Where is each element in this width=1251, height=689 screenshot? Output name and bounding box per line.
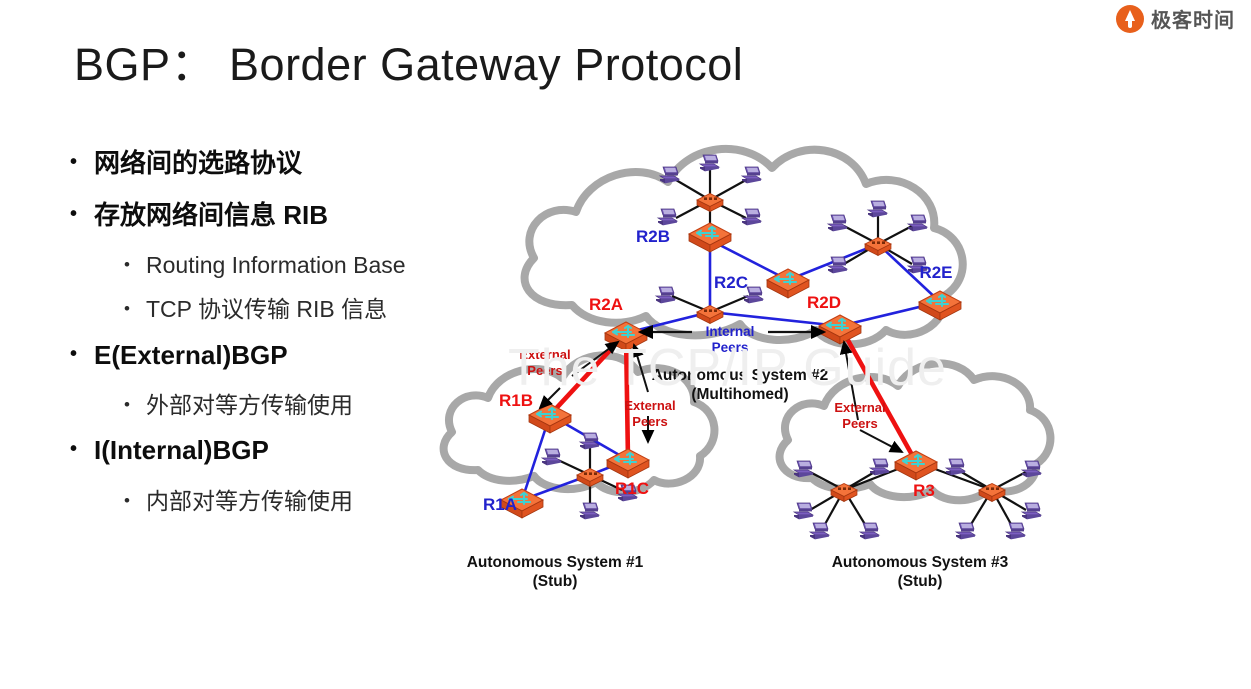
router-label-r2d: R2D <box>807 293 841 312</box>
external-peers-right-line2: Peers <box>842 416 877 431</box>
bullet-text: I(Internal)BGP <box>94 435 269 466</box>
as1-caption-line2: (Stub) <box>533 573 578 590</box>
slide-canvas: 极客时间 BGP： Border Gateway Protocol • 网络间的… <box>0 0 1251 689</box>
router-label-r2a: R2A <box>589 295 623 314</box>
page-title: BGP： Border Gateway Protocol <box>74 28 743 93</box>
external-peers-mid-line2: Peers <box>632 414 667 429</box>
bullet-dot-icon: • <box>70 200 94 229</box>
bgp-network-diagram: The TCP/IP Guide <box>400 130 1100 610</box>
geektime-logo: 极客时间 <box>1116 4 1235 33</box>
internal-peers-line1: Internal <box>706 324 755 339</box>
router-label-r1a: R1A <box>483 495 517 514</box>
bullet-dot-icon: • <box>124 488 146 514</box>
bullet-text: 存放网络间信息 RIB <box>94 200 328 231</box>
diagram-watermark: The TCP/IP Guide <box>508 338 947 398</box>
router-label-r1c: R1C <box>615 479 649 498</box>
bullet-text: Routing Information Base <box>146 252 406 280</box>
bullet-dot-icon: • <box>124 296 146 322</box>
bullet-text: 网络间的选路协议 <box>94 148 302 179</box>
bullet-text: 内部对等方传输使用 <box>146 488 353 516</box>
router-label-r2e: R2E <box>919 263 952 282</box>
as3-caption-line2: (Stub) <box>898 573 943 590</box>
external-peers-right-line1: External <box>834 400 885 415</box>
bullet-dot-icon: • <box>70 435 94 464</box>
bullet-dot-icon: • <box>70 340 94 369</box>
bullet-text: E(External)BGP <box>94 340 288 371</box>
bullet-dot-icon: • <box>124 392 146 418</box>
router-label-r2b: R2B <box>636 227 670 246</box>
bullet-dot-icon: • <box>124 252 146 278</box>
router-label-r2c: R2C <box>714 273 748 292</box>
bullet-dot-icon: • <box>70 148 94 177</box>
router-label-r3: R3 <box>913 481 935 500</box>
as3-caption-line1: Autonomous System #3 <box>832 554 1009 571</box>
geektime-logo-text: 极客时间 <box>1151 4 1235 33</box>
external-peers-mid-line1: External <box>624 398 675 413</box>
as1-caption-line1: Autonomous System #1 <box>467 554 644 571</box>
bullet-text: 外部对等方传输使用 <box>146 392 353 420</box>
bullet-text: TCP 协议传输 RIB 信息 <box>146 296 387 324</box>
geektime-logo-icon <box>1116 5 1144 33</box>
